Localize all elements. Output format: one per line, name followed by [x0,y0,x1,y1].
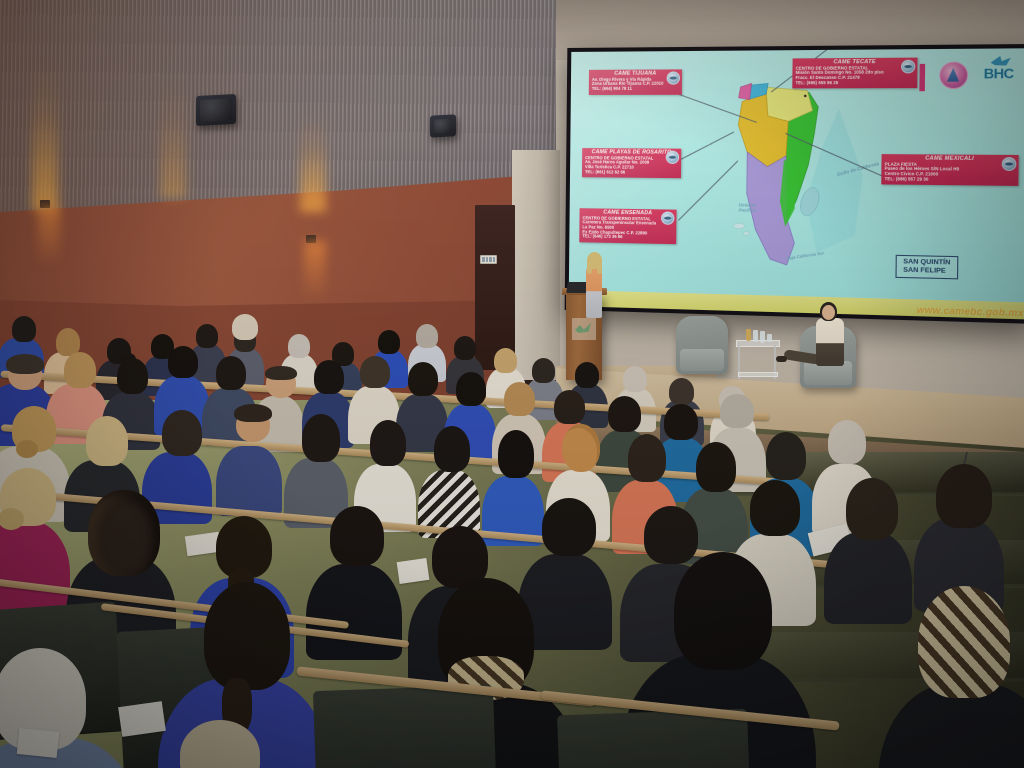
office-card-ensenada[interactable]: CAME ENSENADA CENTRO DE GOBIERNO ESTATAL… [579,208,676,244]
uplight-glow-mid [300,112,326,212]
office-line: TEL: (661) 612 62 66 [585,170,678,176]
localities-box: SAN QUINTÍN SAN FELIPE [895,255,958,280]
wall-speaker-right [430,114,456,137]
audience-area [0,300,1024,768]
office-line: TEL: (665) 655 96 25 [795,80,914,85]
uplight-glow-extra [160,78,186,198]
auditorium-photo: OcéanoPacífico Golfo de California Baja … [0,0,1024,768]
handout-paper[interactable] [17,728,59,758]
sea-label-pacific: OcéanoPacífico [738,202,756,213]
office-line: TEL: (686) 557 29 30 [885,177,1016,183]
bhc-logo: BHC [984,65,1014,81]
came-seal-icon [661,211,674,224]
auditorium-seat[interactable] [313,685,499,768]
bhc-wing-icon [991,56,1011,66]
handout-paper[interactable] [397,558,430,584]
presentation-slide: OcéanoPacífico Golfo de California Baja … [569,48,1024,319]
office-card-tijuana[interactable]: CAME TIJUANA Av. Diego Rivera y Vía Rápi… [589,69,682,94]
baja-california-map [698,64,887,286]
projection-screen: OcéanoPacífico Golfo de California Baja … [565,44,1024,324]
handout-paper[interactable] [118,701,166,737]
office-card-rosarito[interactable]: CAME PLAYAS DE ROSARITO CENTRO DE GOBIER… [582,148,681,178]
uplight-glow-left [32,60,58,210]
bhc-logo-text: BHC [984,65,1014,81]
came-emblem-logo [939,61,968,89]
podium-speaker-hair [587,252,602,269]
brand-accent-bar [919,64,925,91]
office-line: TEL: (646) 173 36 66 [582,234,673,240]
came-seal-icon [1002,157,1017,171]
office-line: TEL: (664) 904 78 11 [592,87,679,92]
locality-san-felipe: SAN FELIPE [903,267,950,277]
came-seal-icon [666,151,679,164]
light-switch-plate[interactable] [480,255,497,264]
office-card-mexicali[interactable]: CAME MEXICALI PLAZA FIESTA Paseo de los … [881,154,1018,186]
uplight-downglow-mid [304,241,326,301]
uplight-downglow-left [38,206,60,266]
office-card-tecate[interactable]: CAME TECATE CENTRO DE GOBIERNO ESTATAL M… [792,58,917,89]
wall-speaker-left [196,94,236,126]
